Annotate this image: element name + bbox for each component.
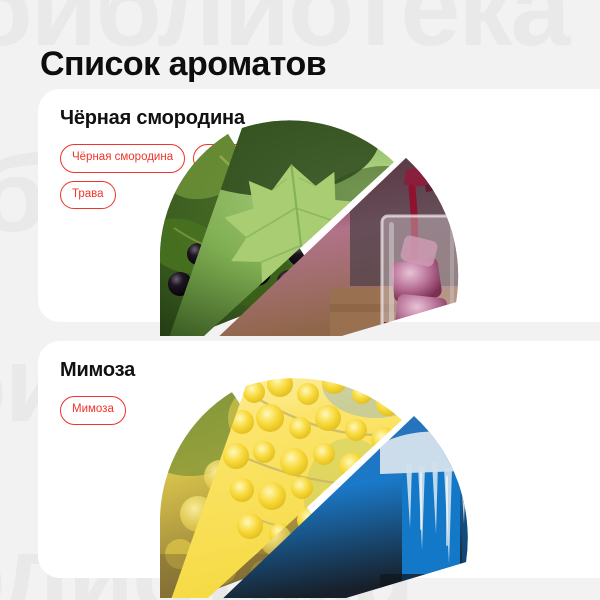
tag-list: Мимоза bbox=[60, 396, 290, 425]
page-title: Список ароматов bbox=[40, 45, 326, 84]
tag-list: Чёрная смородина Листья Трава bbox=[60, 144, 290, 209]
card-body: Мимоза Мимоза bbox=[60, 359, 360, 425]
aroma-tag[interactable]: Трава bbox=[60, 181, 116, 210]
aroma-tag[interactable]: Чёрная смородина bbox=[60, 144, 185, 173]
aroma-card[interactable]: Мимоза Мимоза bbox=[38, 341, 600, 578]
aroma-tag[interactable]: Листья bbox=[193, 144, 254, 173]
aroma-tag[interactable]: Мимоза bbox=[60, 396, 126, 425]
card-title: Чёрная смородина bbox=[60, 107, 360, 130]
card-title: Мимоза bbox=[60, 359, 360, 382]
card-body: Чёрная смородина Чёрная смородина Листья… bbox=[60, 107, 360, 209]
aroma-card[interactable]: Чёрная смородина Чёрная смородина Листья… bbox=[38, 89, 600, 322]
